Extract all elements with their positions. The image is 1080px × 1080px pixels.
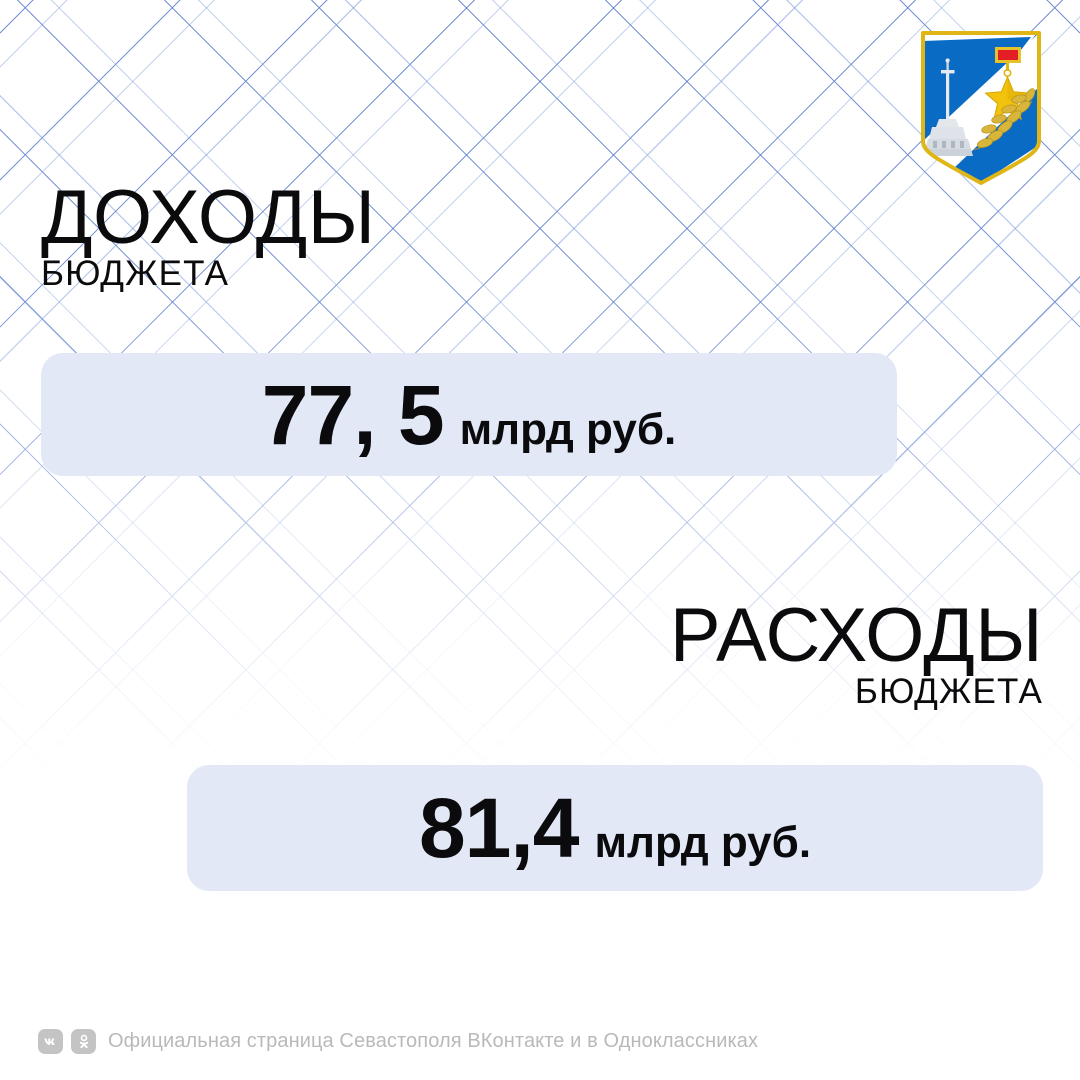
sevastopol-coat-of-arms-icon (919, 29, 1043, 187)
expense-value-number: 81,4 (419, 786, 579, 870)
income-value-unit: млрд руб. (460, 408, 677, 452)
expense-title: РАСХОДЫ (670, 604, 1043, 668)
footer-bar: Официальная страница Севастополя ВКонтак… (38, 1029, 758, 1054)
vk-icon[interactable] (38, 1029, 63, 1054)
expense-value-row: 81,4 млрд руб. (419, 786, 811, 870)
background-fade-overlay (0, 0, 1080, 1080)
income-value-row: 77, 5 млрд руб. (262, 373, 676, 457)
grid-layer-primary (0, 0, 1080, 1080)
expense-heading-block: РАСХОДЫ БЮДЖЕТА (670, 604, 1043, 709)
grid-layer-secondary (0, 0, 1080, 1080)
income-value-card: 77, 5 млрд руб. (41, 353, 897, 476)
income-subtitle: БЮДЖЕТА (41, 256, 376, 291)
footer-text: Официальная страница Севастополя ВКонтак… (108, 1030, 758, 1053)
expense-subtitle: БЮДЖЕТА (670, 674, 1043, 709)
infographic-canvas: ДОХОДЫ БЮДЖЕТА 77, 5 млрд руб. РАСХОДЫ Б… (0, 0, 1080, 1080)
background-diamond-grid (0, 0, 1080, 1080)
income-value-number: 77, 5 (262, 373, 444, 457)
income-title: ДОХОДЫ (41, 186, 376, 250)
expense-value-unit: млрд руб. (594, 821, 811, 865)
income-heading-block: ДОХОДЫ БЮДЖЕТА (41, 186, 376, 291)
ok-icon[interactable] (71, 1029, 96, 1054)
expense-value-card: 81,4 млрд руб. (187, 765, 1043, 891)
